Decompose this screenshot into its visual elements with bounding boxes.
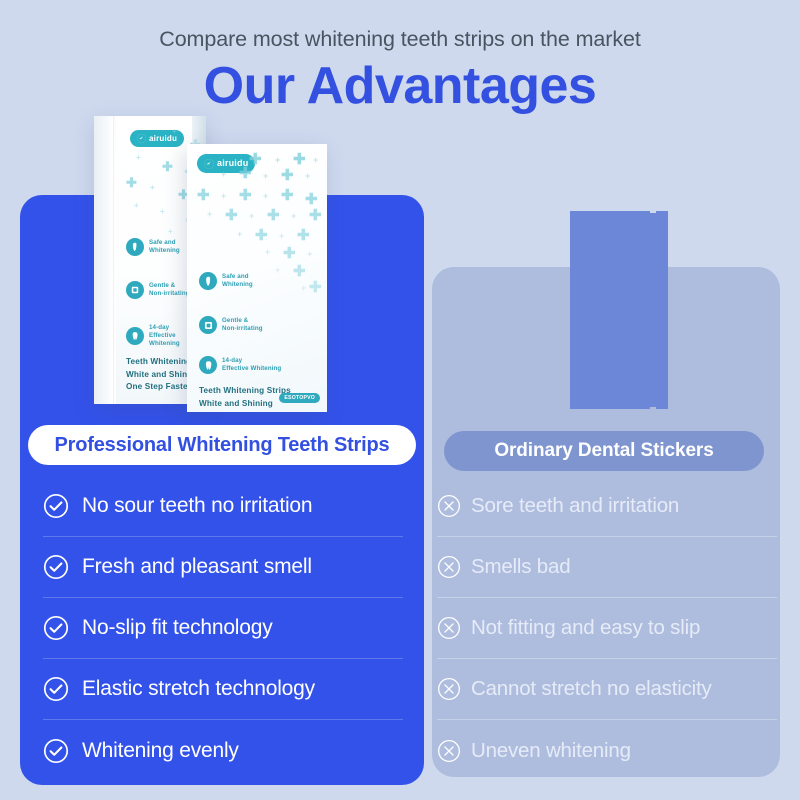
x-circle-icon [437,739,461,763]
box-feature-front-1-text: Gentle &Non-irritating [222,317,263,333]
box-title-front: Teeth Whitening StripsWhite and ShiningO… [199,385,291,412]
box-feature-front-0-text: Safe andWhitening [222,273,253,289]
gentle-box-icon [126,281,144,299]
list-item-label: Smells bad [471,555,570,579]
list-item-label: Elastic stretch technology [82,677,315,701]
list-item-label: Uneven whitening [471,739,631,763]
box-feature-back-0: Safe andWhitening [126,238,180,256]
x-circle-icon [437,555,461,579]
check-circle-icon [43,493,69,519]
gentle-box-icon [199,316,217,334]
list-item: Elastic stretch technology [43,659,403,720]
box-badge: ESOTOPVO [279,393,320,403]
box-feature-front-2: 14-dayEffective Whitening [199,356,281,374]
check-circle-icon [43,738,69,764]
ordinary-product-strip-image [570,211,668,409]
brand-logo-mark-icon [137,134,146,143]
list-item: Uneven whitening [437,720,777,781]
list-item: Cannot stretch no elasticity [437,659,777,720]
product-photo: YOUR SMILE, MY MISSION airuidu + ✚ + ✚ +… [88,116,334,412]
list-item: Smells bad [437,537,777,598]
x-circle-icon [437,494,461,518]
list-item: Sore teeth and irritation [437,476,777,537]
list-item-label: Cannot stretch no elasticity [471,677,712,701]
box-feature-front-1: Gentle &Non-irritating [199,316,263,334]
tooth-icon [126,327,144,345]
product-box-spine: YOUR SMILE, MY MISSION [94,116,114,404]
list-item-label: No sour teeth no irritation [82,494,312,518]
box-feature-front-0: Safe andWhitening [199,272,253,290]
tooth-icon [199,356,217,374]
ordinary-column-heading: Ordinary Dental Stickers [444,431,764,471]
list-item: Whitening evenly [43,720,403,781]
x-circle-icon [437,616,461,640]
tooth-shield-icon [126,238,144,256]
poster-header: Compare most whitening teeth strips on t… [0,0,800,114]
professional-column-heading: Professional Whitening Teeth Strips [28,425,416,465]
brand-logo-text-front: airuidu [217,159,248,168]
check-circle-icon [43,554,69,580]
box-feature-back-0-text: Safe andWhitening [149,239,180,255]
box-feature-front-2-text: 14-dayEffective Whitening [222,357,281,373]
page-title: Our Advantages [0,58,800,114]
professional-feature-list: No sour teeth no irritation Fresh and pl… [43,476,403,781]
brand-logo-text-back: airuidu [149,135,177,143]
check-circle-icon [43,676,69,702]
box-feature-back-1-text: Gentle &Non-irritating [149,282,190,298]
brand-logo-front: airuidu [197,154,255,173]
header-subtitle: Compare most whitening teeth strips on t… [0,0,800,52]
list-item-label: Sore teeth and irritation [471,494,679,518]
list-item: No-slip fit technology [43,598,403,659]
x-circle-icon [437,677,461,701]
check-circle-icon [43,615,69,641]
list-item-label: No-slip fit technology [82,616,273,640]
list-item-label: Not fitting and easy to slip [471,616,700,640]
product-box-front: airuidu ✚ + ✚ + + ✚ + ✚ + ✚ + ✚ + ✚ ✚ + … [187,144,327,412]
list-item-label: Fresh and pleasant smell [82,555,312,579]
tooth-shield-icon [199,272,217,290]
list-item-label: Whitening evenly [82,739,239,763]
ordinary-feature-list: Sore teeth and irritation Smells bad Not… [437,476,777,781]
box-feature-back-1: Gentle &Non-irritating [126,281,190,299]
list-item: No sour teeth no irritation [43,476,403,537]
list-item: Fresh and pleasant smell [43,537,403,598]
list-item: Not fitting and easy to slip [437,598,777,659]
brand-logo-mark-icon [204,159,214,169]
advantages-comparison-poster: Compare most whitening teeth strips on t… [0,0,800,800]
brand-logo-back: airuidu [130,130,184,147]
